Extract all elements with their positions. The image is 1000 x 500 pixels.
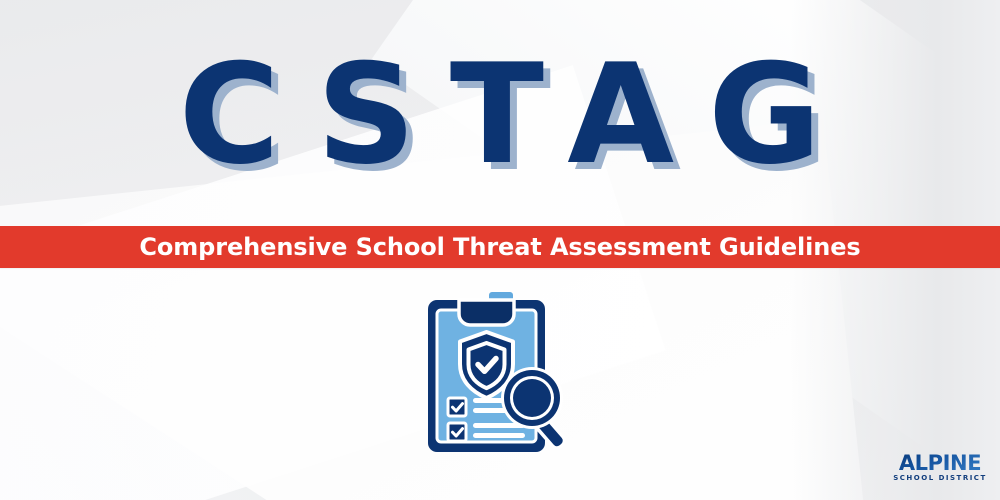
checkbox-two xyxy=(448,423,466,441)
clipboard-shield-magnifier-icon xyxy=(410,288,590,468)
title-area: CSTAG xyxy=(0,38,1000,193)
alpine-school-district-logo: ALPINE SCHOOL DISTRICT xyxy=(888,448,992,492)
page-title: CSTAG xyxy=(179,38,856,193)
cstag-banner: CSTAG Comprehensive School Threat Assess… xyxy=(0,0,1000,500)
magnifier-lens xyxy=(513,379,551,417)
subtitle-text: Comprehensive School Threat Assessment G… xyxy=(139,233,860,261)
alpine-logo-secondary-text: SCHOOL DISTRICT xyxy=(893,474,986,482)
clipboard-clip xyxy=(459,300,514,325)
checkbox-one xyxy=(448,398,466,416)
alpine-logo-primary-text: ALPINE xyxy=(899,451,981,475)
text-line-2b xyxy=(473,433,525,438)
subtitle-banner: Comprehensive School Threat Assessment G… xyxy=(0,226,1000,268)
